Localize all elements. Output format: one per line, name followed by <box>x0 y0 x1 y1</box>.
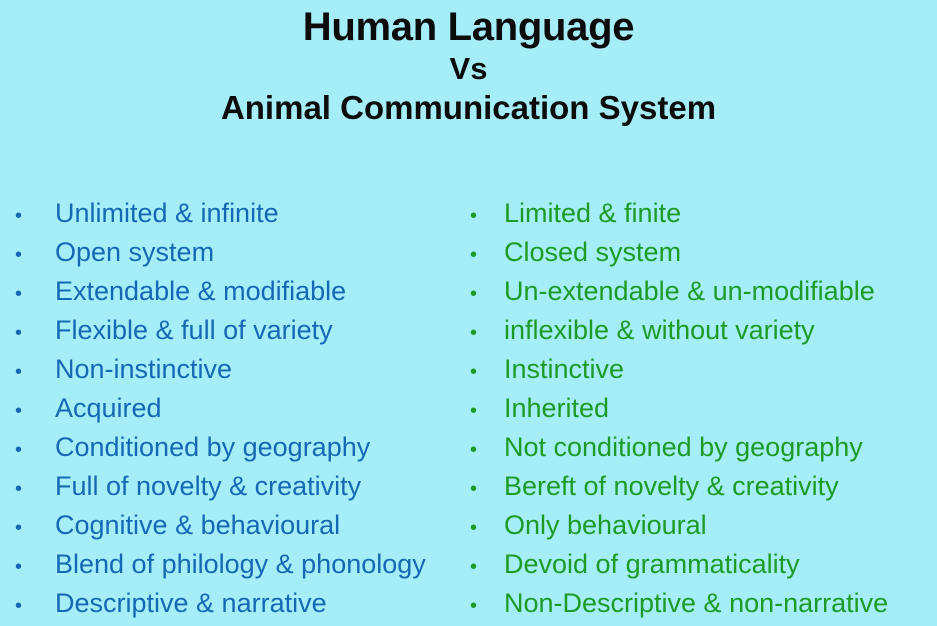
list-item: •Un-extendable & un-modifiable <box>450 272 937 311</box>
list-item: •Acquired <box>0 389 470 428</box>
list-item: •Only behavioural <box>450 506 937 545</box>
list-item-label: Non-instinctive <box>51 350 232 389</box>
list-item: •Limited & finite <box>450 194 937 233</box>
bullet-point-icon: • <box>450 431 502 470</box>
list-item-label: Open system <box>51 233 214 272</box>
bullet-point-icon: • <box>450 197 502 236</box>
bullet-point-icon: • <box>0 587 51 626</box>
list-item: •Cognitive & behavioural <box>0 506 470 545</box>
bullet-point-icon: • <box>450 314 502 353</box>
comparison-columns: •Unlimited & infinite•Open system•Extend… <box>0 194 937 626</box>
bullet-point-icon: • <box>450 548 502 587</box>
list-item: •Conditioned by geography <box>0 428 470 467</box>
list-item-label: Not conditioned by geography <box>502 428 863 467</box>
column-animal-communication: •Limited & finite•Closed system•Un-exten… <box>450 194 937 626</box>
list-item-label: Inherited <box>502 389 609 428</box>
list-item-label: Flexible & full of variety <box>51 311 333 350</box>
list-item: •Extendable & modifiable <box>0 272 470 311</box>
column-human-language: •Unlimited & infinite•Open system•Extend… <box>0 194 470 626</box>
list-item-label: Unlimited & infinite <box>51 194 279 233</box>
bullet-point-icon: • <box>0 470 51 509</box>
bullet-point-icon: • <box>0 236 51 275</box>
list-item-label: Full of novelty & creativity <box>51 467 361 506</box>
list-item-label: Cognitive & behavioural <box>51 506 340 545</box>
bullet-point-icon: • <box>0 275 51 314</box>
list-item: •inflexible & without variety <box>450 311 937 350</box>
bullet-point-icon: • <box>0 392 51 431</box>
list-item: •Descriptive & narrative <box>0 584 470 623</box>
list-item-label: Extendable & modifiable <box>51 272 346 311</box>
bullet-point-icon: • <box>0 548 51 587</box>
list-item: •Unlimited & infinite <box>0 194 470 233</box>
slide-title-block: Human Language Vs Animal Communication S… <box>0 0 937 128</box>
list-item: •Full of novelty & creativity <box>0 467 470 506</box>
title-subtitle: Animal Communication System <box>0 88 937 128</box>
list-item: •Instinctive <box>450 350 937 389</box>
bullet-point-icon: • <box>0 314 51 353</box>
list-item: •Non-Descriptive & non-narrative <box>450 584 937 623</box>
list-item-label: Acquired <box>51 389 162 428</box>
page-title: Human Language <box>0 0 937 50</box>
bullet-point-icon: • <box>450 470 502 509</box>
bullet-point-icon: • <box>450 275 502 314</box>
bullet-point-icon: • <box>450 509 502 548</box>
bullet-point-icon: • <box>450 353 502 392</box>
list-item: •Not conditioned by geography <box>450 428 937 467</box>
list-item: •Blend of philology & phonology <box>0 545 470 584</box>
list-item: •Inherited <box>450 389 937 428</box>
list-item: •Closed system <box>450 233 937 272</box>
list-item-label: Bereft of novelty & creativity <box>502 467 839 506</box>
list-item: •Non-instinctive <box>0 350 470 389</box>
list-item-label: Un-extendable & un-modifiable <box>502 272 875 311</box>
list-item: •Flexible & full of variety <box>0 311 470 350</box>
list-item-label: Descriptive & narrative <box>51 584 327 623</box>
title-versus-label: Vs <box>0 50 937 88</box>
list-item-label: Non-Descriptive & non-narrative <box>502 584 888 623</box>
list-item-label: inflexible & without variety <box>502 311 815 350</box>
bullet-point-icon: • <box>0 353 51 392</box>
bullet-point-icon: • <box>450 236 502 275</box>
list-item: •Bereft of novelty & creativity <box>450 467 937 506</box>
bullet-point-icon: • <box>0 509 51 548</box>
list-item-label: Blend of philology & phonology <box>51 545 426 584</box>
bullet-point-icon: • <box>0 197 51 236</box>
bullet-point-icon: • <box>450 587 502 626</box>
list-item: •Devoid of grammaticality <box>450 545 937 584</box>
list-item-label: Limited & finite <box>502 194 681 233</box>
list-item: •Open system <box>0 233 470 272</box>
list-item-label: Devoid of grammaticality <box>502 545 800 584</box>
list-item-label: Conditioned by geography <box>51 428 370 467</box>
bullet-point-icon: • <box>0 431 51 470</box>
bullet-point-icon: • <box>450 392 502 431</box>
list-item-label: Only behavioural <box>502 506 707 545</box>
list-item-label: Instinctive <box>502 350 624 389</box>
slide-canvas: Human Language Vs Animal Communication S… <box>0 0 937 626</box>
list-item-label: Closed system <box>502 233 681 272</box>
